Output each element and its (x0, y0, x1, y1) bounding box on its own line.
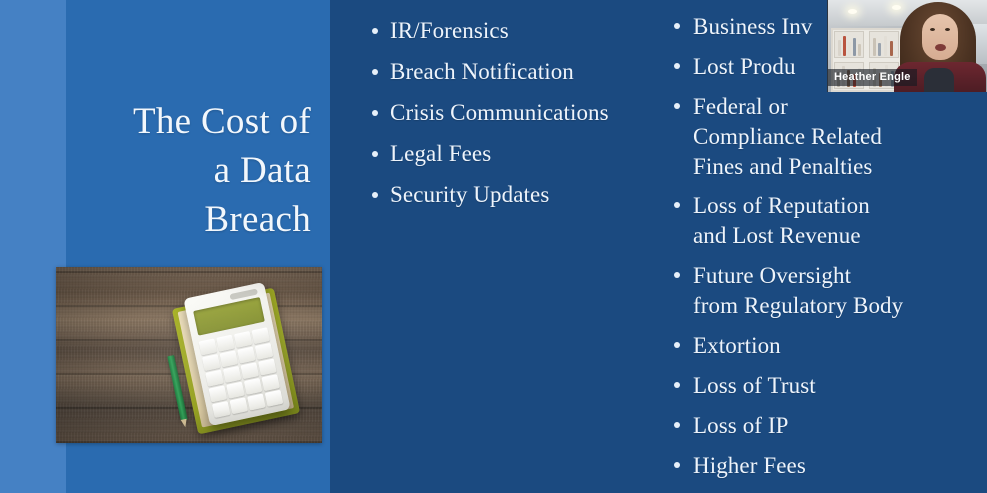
bullet-dot-icon (674, 422, 680, 428)
bullet-item: Security Updates (372, 180, 672, 210)
bullet-dot-icon (674, 23, 680, 29)
bullet-dot-icon (674, 63, 680, 69)
presenter-video-tile[interactable]: Heather Engle (827, 0, 987, 92)
presentation-slide: The Cost of a Data Breach IR/Forensics (0, 0, 987, 493)
bullet-item: Legal Fees (372, 139, 672, 169)
slide-title: The Cost of a Data Breach (76, 98, 311, 244)
presenter-face (922, 14, 958, 60)
bullet-dot-icon (674, 342, 680, 348)
bullet-text: Security Updates (390, 180, 549, 210)
bullet-text: Crisis Communications (390, 98, 609, 128)
shelf-bay (869, 31, 899, 58)
bullet-item: Higher Fees (674, 451, 974, 481)
bullet-dot-icon (372, 69, 378, 75)
bullet-text: Loss of IP (693, 411, 789, 441)
bullet-text: Legal Fees (390, 139, 491, 169)
bullet-dot-icon (372, 110, 378, 116)
bullet-dot-icon (674, 272, 680, 278)
presenter-eye (945, 28, 950, 31)
bullet-dot-icon (674, 103, 680, 109)
bullet-dot-icon (372, 151, 378, 157)
bullet-text: Lost Produ (693, 52, 796, 82)
bullet-column-left: IR/Forensics Breach Notification Crisis … (372, 16, 672, 220)
bullet-text: Future Oversight from Regulatory Body (693, 261, 903, 321)
bullet-item: Loss of IP (674, 411, 974, 441)
bullet-item: Future Oversight from Regulatory Body (674, 261, 974, 321)
bullet-text: Higher Fees (693, 451, 806, 481)
bullet-item: Breach Notification (372, 57, 672, 87)
bullet-text: Extortion (693, 331, 781, 361)
bullet-dot-icon (674, 462, 680, 468)
bullet-item: Extortion (674, 331, 974, 361)
ceiling-light-icon (848, 9, 857, 14)
bullet-dot-icon (372, 28, 378, 34)
bullet-item: Loss of Trust (674, 371, 974, 401)
calculator-keypad (199, 327, 284, 418)
ceiling-light-icon (892, 5, 901, 10)
presenter-mouth (935, 44, 946, 51)
bullet-text: Federal or Compliance Related Fines and … (693, 92, 882, 182)
bullet-dot-icon (674, 202, 680, 208)
bullet-text: Breach Notification (390, 57, 574, 87)
bullet-item: Federal or Compliance Related Fines and … (674, 92, 974, 182)
bullet-item: Loss of Reputation and Lost Revenue (674, 191, 974, 251)
bullet-text: Loss of Reputation and Lost Revenue (693, 191, 870, 251)
shelf-bay (834, 31, 864, 58)
bullet-text: Business Inv (693, 12, 812, 42)
bullet-text: Loss of Trust (693, 371, 816, 401)
bullet-item: Crisis Communications (372, 98, 672, 128)
calculator-photo (56, 267, 322, 443)
bullet-text: IR/Forensics (390, 16, 509, 46)
participant-name-label: Heather Engle (828, 69, 917, 86)
bullet-item: IR/Forensics (372, 16, 672, 46)
presenter-eye (930, 28, 935, 31)
bullet-dot-icon (372, 192, 378, 198)
bullet-dot-icon (674, 382, 680, 388)
